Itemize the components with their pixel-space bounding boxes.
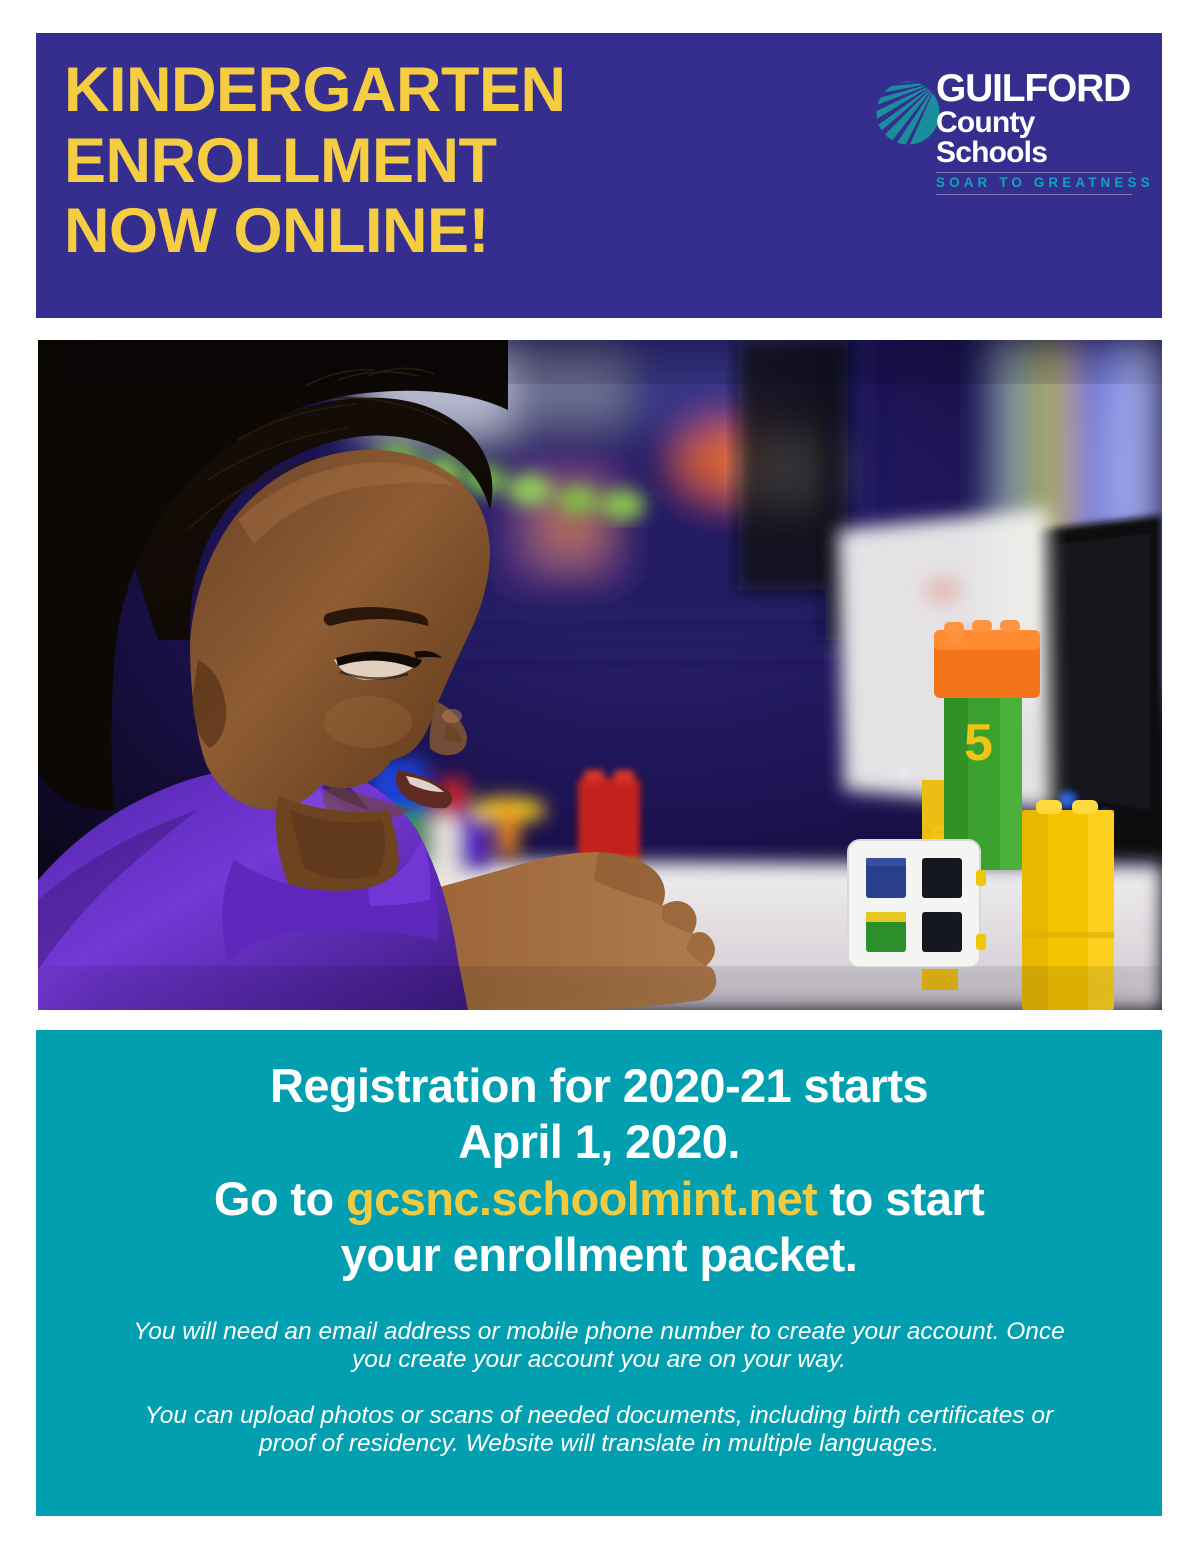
- svg-text:5: 5: [964, 714, 993, 772]
- enrollment-url-link[interactable]: gcsnc.schoolmint.net: [346, 1172, 817, 1225]
- registration-headline: Registration for 2020-21 starts April 1,…: [76, 1058, 1122, 1284]
- registration-line-2: April 1, 2020.: [76, 1114, 1122, 1170]
- info-paragraph-2: You can upload photos or scans of needed…: [114, 1402, 1084, 1458]
- cta-line-2: your enrollment packet.: [76, 1227, 1122, 1283]
- headline-line-2: ENROLLMENT: [64, 126, 744, 197]
- cta-suffix: to start: [817, 1172, 984, 1225]
- teal-info-band: Registration for 2020-21 starts April 1,…: [36, 1030, 1162, 1516]
- logo-tagline: SOAR TO GREATNESS: [936, 173, 1132, 194]
- page-title: KINDERGARTEN ENROLLMENT NOW ONLINE!: [64, 55, 744, 267]
- logo-wordmark: GUILFORD County Schools SOAR TO GREATNES…: [936, 71, 1132, 195]
- info-paragraph-1: You will need an email address or mobile…: [114, 1318, 1084, 1374]
- header-band: KINDERGARTEN ENROLLMENT NOW ONLINE!: [36, 33, 1162, 318]
- registration-line-1: Registration for 2020-21 starts: [76, 1058, 1122, 1114]
- kindergarten-enrollment-flyer: KINDERGARTEN ENROLLMENT NOW ONLINE!: [0, 0, 1200, 1553]
- headline-line-3: NOW ONLINE!: [64, 196, 744, 267]
- classroom-photo: 5 5: [38, 340, 1162, 1010]
- logo-name-secondary: County Schools: [936, 108, 1132, 168]
- logo-name-primary: GUILFORD: [936, 71, 1132, 107]
- headline-line-1: KINDERGARTEN: [64, 55, 744, 126]
- cta-line-1: Go to gcsnc.schoolmint.net to start: [76, 1171, 1122, 1227]
- logo-divider-bottom: [936, 194, 1132, 195]
- cta-prefix: Go to: [214, 1172, 346, 1225]
- district-logo: GUILFORD County Schools SOAR TO GREATNES…: [854, 51, 1132, 211]
